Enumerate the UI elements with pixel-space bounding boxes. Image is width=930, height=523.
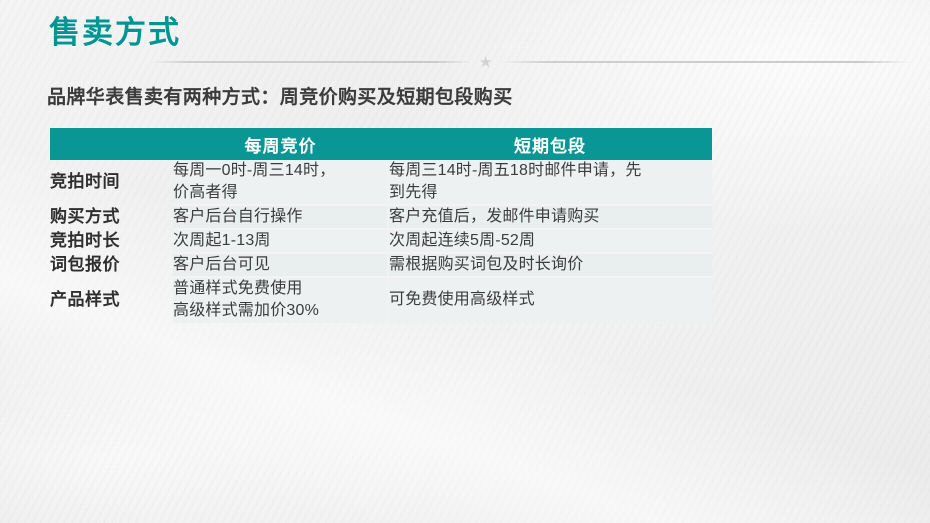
cell-auction-time-package: 每周三14时-周五18时邮件申请，先 到先得 bbox=[388, 160, 712, 205]
table-header-short-term-package: 短期包段 bbox=[388, 128, 712, 160]
cell-line: 次周起1-13周 bbox=[173, 230, 387, 252]
cell-line: 价高者得 bbox=[173, 182, 387, 204]
slide-canvas: 售卖方式 ★ 品牌华表售卖有两种方式：周竞价购买及短期包段购买 每周竞价 短期包… bbox=[0, 0, 930, 523]
table-header-weekly-auction: 每周竞价 bbox=[173, 128, 388, 160]
table-row: 竞拍时间 每周一0时-周三14时， 价高者得 每周三14时-周五18时邮件申请，… bbox=[50, 160, 712, 205]
divider-rule-right bbox=[499, 61, 910, 63]
table-row: 词包报价 客户后台可见 需根据购买词包及时长询价 bbox=[50, 253, 712, 277]
row-label-keyword-package-price: 词包报价 bbox=[50, 253, 173, 277]
cell-auction-duration-package: 次周起连续5周-52周 bbox=[388, 229, 712, 253]
row-label-product-style: 产品样式 bbox=[50, 277, 173, 322]
page-title: 售卖方式 bbox=[49, 15, 181, 51]
sales-method-table: 每周竞价 短期包段 竞拍时间 每周一0时-周三14时， 价高者得 每周三14时-… bbox=[50, 128, 712, 323]
table-row: 竞拍时长 次周起1-13周 次周起连续5周-52周 bbox=[50, 229, 712, 253]
cell-keyword-price-package: 需根据购买词包及时长询价 bbox=[388, 253, 712, 277]
row-label-auction-time: 竞拍时间 bbox=[50, 160, 173, 205]
star-icon: ★ bbox=[479, 56, 492, 69]
cell-line: 普通样式免费使用 bbox=[173, 278, 387, 300]
cell-product-style-package: 可免费使用高级样式 bbox=[388, 277, 712, 322]
cell-line: 每周一0时-周三14时， bbox=[173, 160, 387, 182]
title-divider: ★ bbox=[150, 56, 910, 68]
row-label-auction-duration: 竞拍时长 bbox=[50, 229, 173, 253]
table-header-blank bbox=[50, 128, 173, 160]
table-row: 购买方式 客户后台自行操作 客户充值后，发邮件申请购买 bbox=[50, 205, 712, 229]
cell-line: 每周三14时-周五18时邮件申请，先 bbox=[389, 160, 712, 182]
section-subtitle: 品牌华表售卖有两种方式：周竞价购买及短期包段购买 bbox=[47, 82, 513, 109]
cell-purchase-method-package: 客户充值后，发邮件申请购买 bbox=[388, 205, 712, 229]
cell-keyword-price-weekly: 客户后台可见 bbox=[173, 253, 388, 277]
cell-line: 可免费使用高级样式 bbox=[389, 289, 712, 311]
cell-product-style-weekly: 普通样式免费使用 高级样式需加价30% bbox=[173, 277, 388, 322]
row-label-purchase-method: 购买方式 bbox=[50, 205, 173, 229]
table-header-row: 每周竞价 短期包段 bbox=[50, 128, 712, 160]
divider-rule-left bbox=[150, 61, 472, 63]
cell-line: 客户后台自行操作 bbox=[173, 206, 387, 228]
cell-line: 高级样式需加价30% bbox=[173, 300, 387, 322]
table-row: 产品样式 普通样式免费使用 高级样式需加价30% 可免费使用高级样式 bbox=[50, 277, 712, 322]
cell-line: 客户后台可见 bbox=[173, 254, 387, 276]
cell-line: 次周起连续5周-52周 bbox=[389, 230, 712, 252]
cell-purchase-method-weekly: 客户后台自行操作 bbox=[173, 205, 388, 229]
cell-line: 到先得 bbox=[389, 182, 712, 204]
cell-auction-duration-weekly: 次周起1-13周 bbox=[173, 229, 388, 253]
cell-auction-time-weekly: 每周一0时-周三14时， 价高者得 bbox=[173, 160, 388, 205]
cell-line: 客户充值后，发邮件申请购买 bbox=[389, 206, 712, 228]
cell-line: 需根据购买词包及时长询价 bbox=[389, 254, 712, 276]
